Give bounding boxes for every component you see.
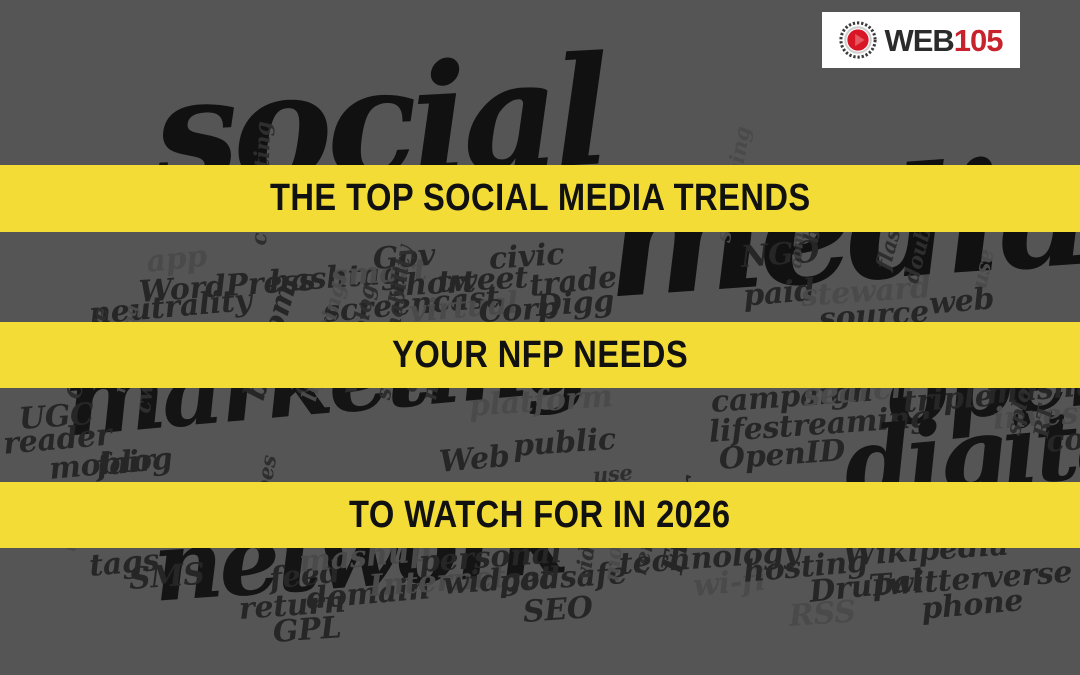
- word-cloud-word: Digg: [535, 287, 615, 322]
- word-cloud-word: OpenID: [718, 436, 846, 475]
- headline-bar-line-2: YOUR NFP NEEDS: [0, 322, 1080, 388]
- word-cloud-word: fair: [95, 446, 156, 482]
- headline-bar-line-3: TO WATCH FOR IN 2026: [0, 482, 1080, 548]
- word-cloud-word: SEO: [522, 593, 594, 628]
- word-cloud-word: Web: [438, 442, 511, 478]
- headline-bar-line-1: THE TOP SOCIAL MEDIA TRENDS: [0, 165, 1080, 232]
- word-cloud-word: code: [1045, 421, 1080, 458]
- headline-text-line-1: THE TOP SOCIAL MEDIA TRENDS: [270, 177, 811, 220]
- headline-text-line-3: TO WATCH FOR IN 2026: [349, 494, 730, 537]
- logo-wordmark: WEB105: [884, 25, 1002, 56]
- word-cloud-word: phone: [920, 586, 1024, 625]
- record-play-circle-icon: [839, 21, 877, 59]
- poster-canvas: socialmediamarketingopennetworkappWordPr…: [0, 0, 1080, 675]
- logo-wordmark-accent: 105: [954, 25, 1003, 56]
- word-cloud-word: public: [512, 425, 617, 462]
- word-cloud-word: SMS: [128, 560, 206, 595]
- word-cloud-word: GPL: [272, 613, 342, 648]
- word-cloud-word: RSS: [788, 597, 857, 632]
- word-cloud-word: NGO: [740, 238, 820, 273]
- web105-logo[interactable]: WEB105: [822, 12, 1020, 68]
- logo-wordmark-primary: WEB: [884, 25, 953, 56]
- headline-text-line-2: YOUR NFP NEEDS: [392, 334, 688, 377]
